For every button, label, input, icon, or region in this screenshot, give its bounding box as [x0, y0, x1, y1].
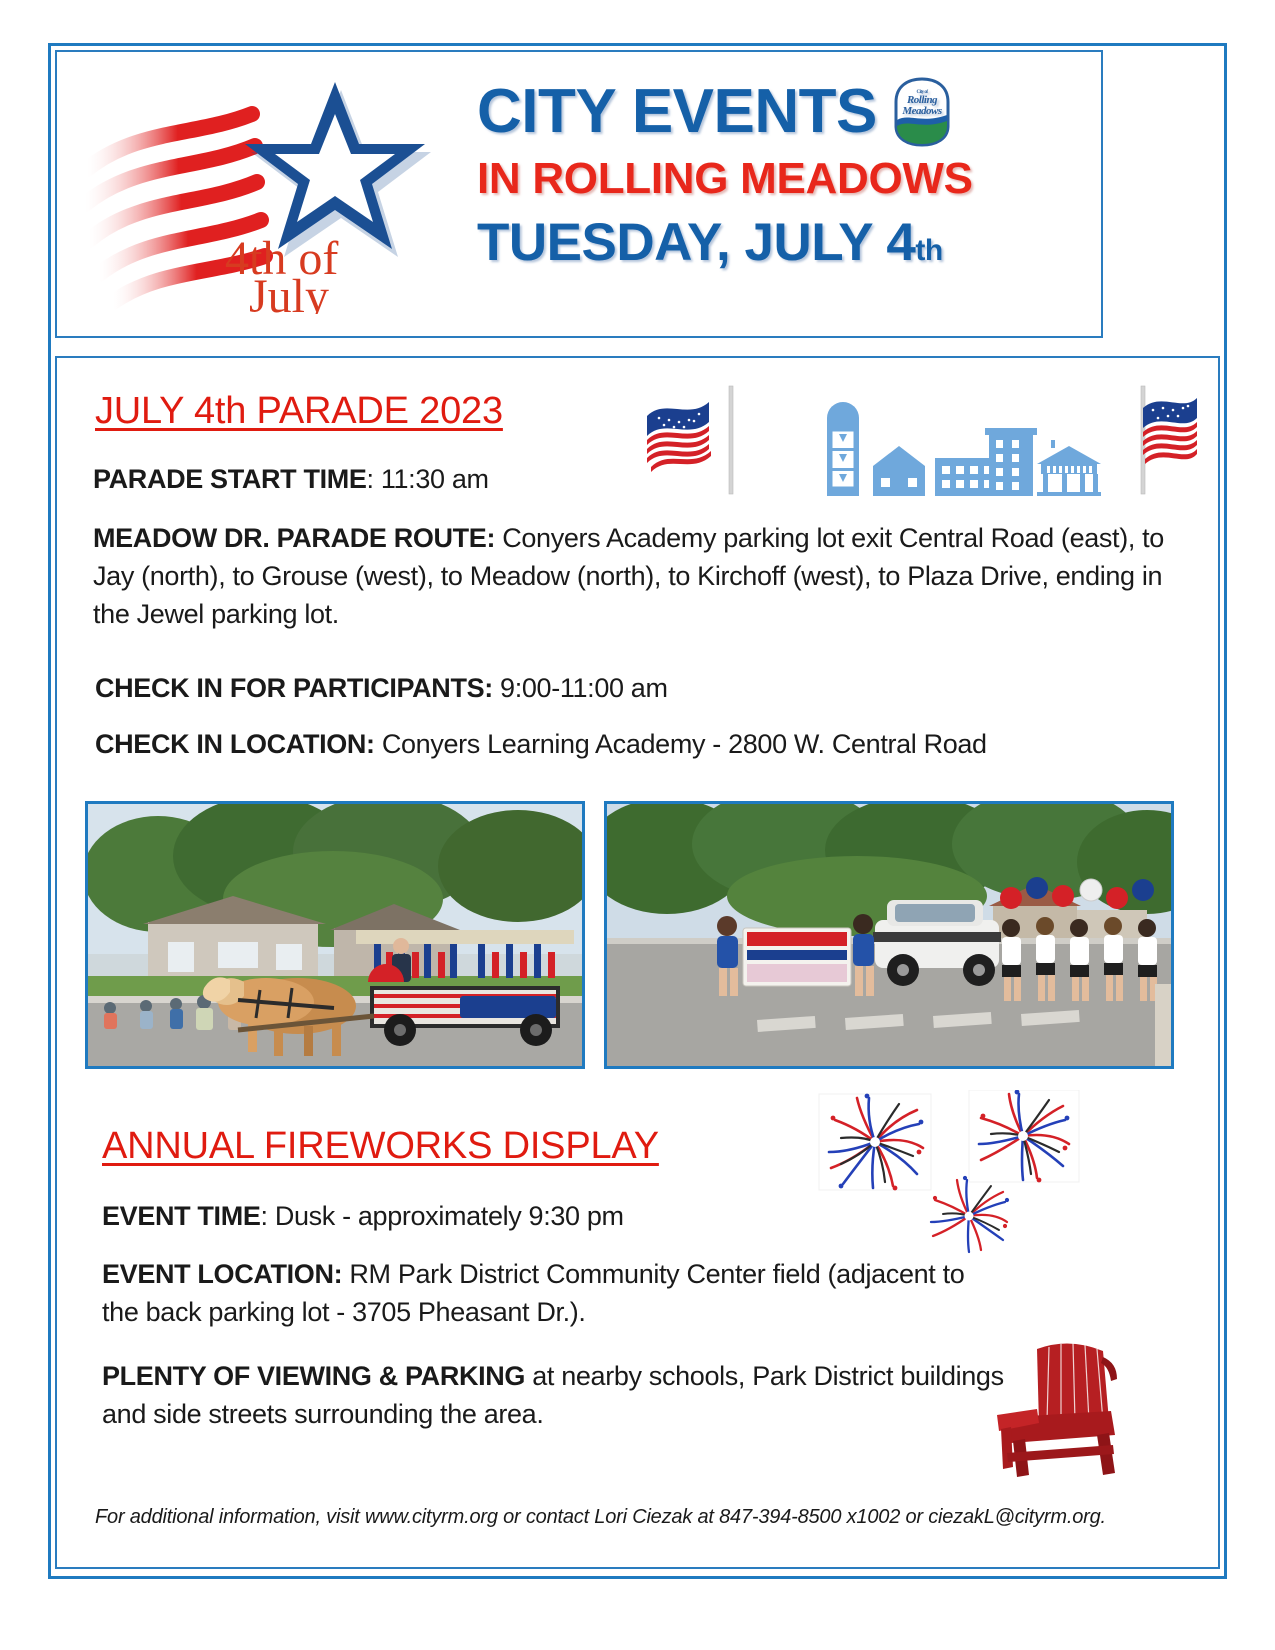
parade-route-line: MEADOW DR. PARADE ROUTE: Conyers Academy…: [93, 520, 1167, 633]
checkin-time-value: 9:00-11:00 am: [493, 673, 668, 703]
fireworks-location-label: EVENT LOCATION:: [102, 1259, 342, 1289]
fireworks-time-line: EVENT TIME: Dusk - approximately 9:30 pm: [102, 1198, 902, 1236]
flyer-page: 4th of July CITY EVENTS City of Rolling …: [0, 0, 1275, 1650]
header-panel: 4th of July CITY EVENTS City of Rolling …: [55, 50, 1103, 338]
parade-start-time-value: : 11:30 am: [367, 464, 489, 494]
checkin-time-label: CHECK IN FOR PARTICIPANTS:: [95, 673, 493, 703]
title-in-rolling-meadows: IN ROLLING MEADOWS: [477, 154, 1097, 204]
firework-burst-icon-2: [969, 1090, 1079, 1182]
parade-photo-horse-wagon: [85, 801, 585, 1069]
firework-burst-icon-1: [819, 1094, 931, 1191]
body-panel: JULY 4th PARADE 2023: [55, 356, 1220, 1569]
fireworks-location-line: EVENT LOCATION: RM Park District Communi…: [102, 1256, 1002, 1332]
checkin-location-label: CHECK IN LOCATION:: [95, 729, 375, 759]
usa-flag-icon-right: [1141, 386, 1197, 494]
title-city-events: CITY EVENTS: [477, 80, 877, 143]
skyline-icon: [827, 402, 1101, 496]
parade-start-time-label: PARADE START TIME: [93, 464, 367, 494]
city-seal-icon: City of Rolling Meadows: [891, 76, 953, 148]
fireworks-section-heading: ANNUAL FIREWORKS DISPLAY: [102, 1125, 659, 1168]
fourth-of-july-logo-icon: 4th of July: [77, 74, 457, 314]
seal-text-bot: Meadows: [901, 105, 942, 117]
checkin-location-value: Conyers Learning Academy - 2800 W. Centr…: [375, 729, 987, 759]
title-date-text: TUESDAY, JULY: [477, 213, 886, 272]
fireworks-time-value: : Dusk - approximately 9:30 pm: [261, 1201, 624, 1231]
header-title-line: CITY EVENTS City of Rolling Meadows: [477, 76, 1097, 148]
title-date-day: 4: [886, 213, 915, 272]
checkin-time-line: CHECK IN FOR PARTICIPANTS: 9:00-11:00 am: [95, 670, 895, 708]
logo-caption-line2: July: [249, 270, 329, 314]
fireworks-parking-line: PLENTY OF VIEWING & PARKING at nearby sc…: [102, 1358, 1012, 1434]
parade-photo-dance-team: [604, 801, 1174, 1069]
footer-contact-note: For additional information, visit www.ci…: [95, 1506, 1185, 1529]
adirondack-chair-icon: [987, 1333, 1147, 1478]
parade-start-time-line: PARADE START TIME: 11:30 am: [93, 461, 733, 499]
parade-section-heading: JULY 4th PARADE 2023: [95, 390, 503, 433]
fireworks-parking-label: PLENTY OF VIEWING & PARKING: [102, 1361, 525, 1391]
parade-route-label: MEADOW DR. PARADE ROUTE:: [93, 523, 495, 553]
title-date-suffix: th: [915, 234, 942, 267]
title-tuesday-july-4th: TUESDAY, JULY 4th: [477, 212, 1097, 273]
firework-burst-icon-3: [931, 1176, 1009, 1252]
fireworks-time-label: EVENT TIME: [102, 1201, 261, 1231]
checkin-location-line: CHECK IN LOCATION: Conyers Learning Acad…: [95, 726, 1185, 764]
header-text-block: CITY EVENTS City of Rolling Meadows IN R…: [477, 76, 1097, 326]
